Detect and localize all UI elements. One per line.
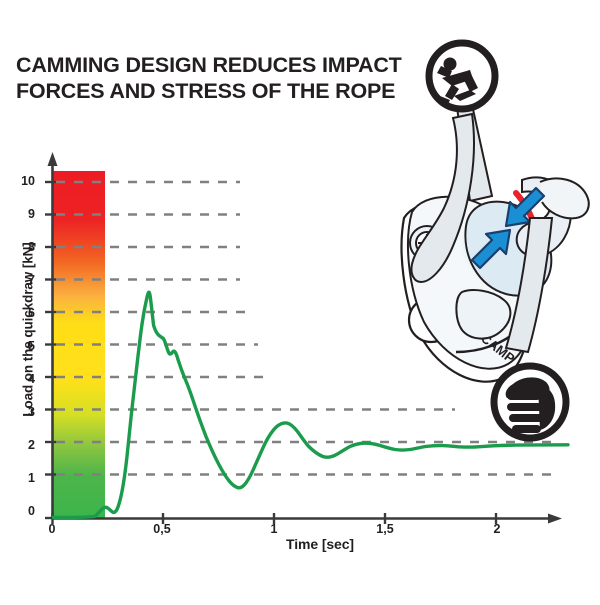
rope-path [540,178,589,218]
chart-and-illustration-svg: CAMP [0,0,600,600]
braking-hand-icon [494,366,566,438]
falling-climber-icon [429,43,495,109]
belay-device-illustration: CAMP [402,114,589,382]
infographic-canvas: CAMMING DESIGN REDUCES IMPACT FORCES AND… [0,0,600,600]
x-axis [52,513,562,524]
